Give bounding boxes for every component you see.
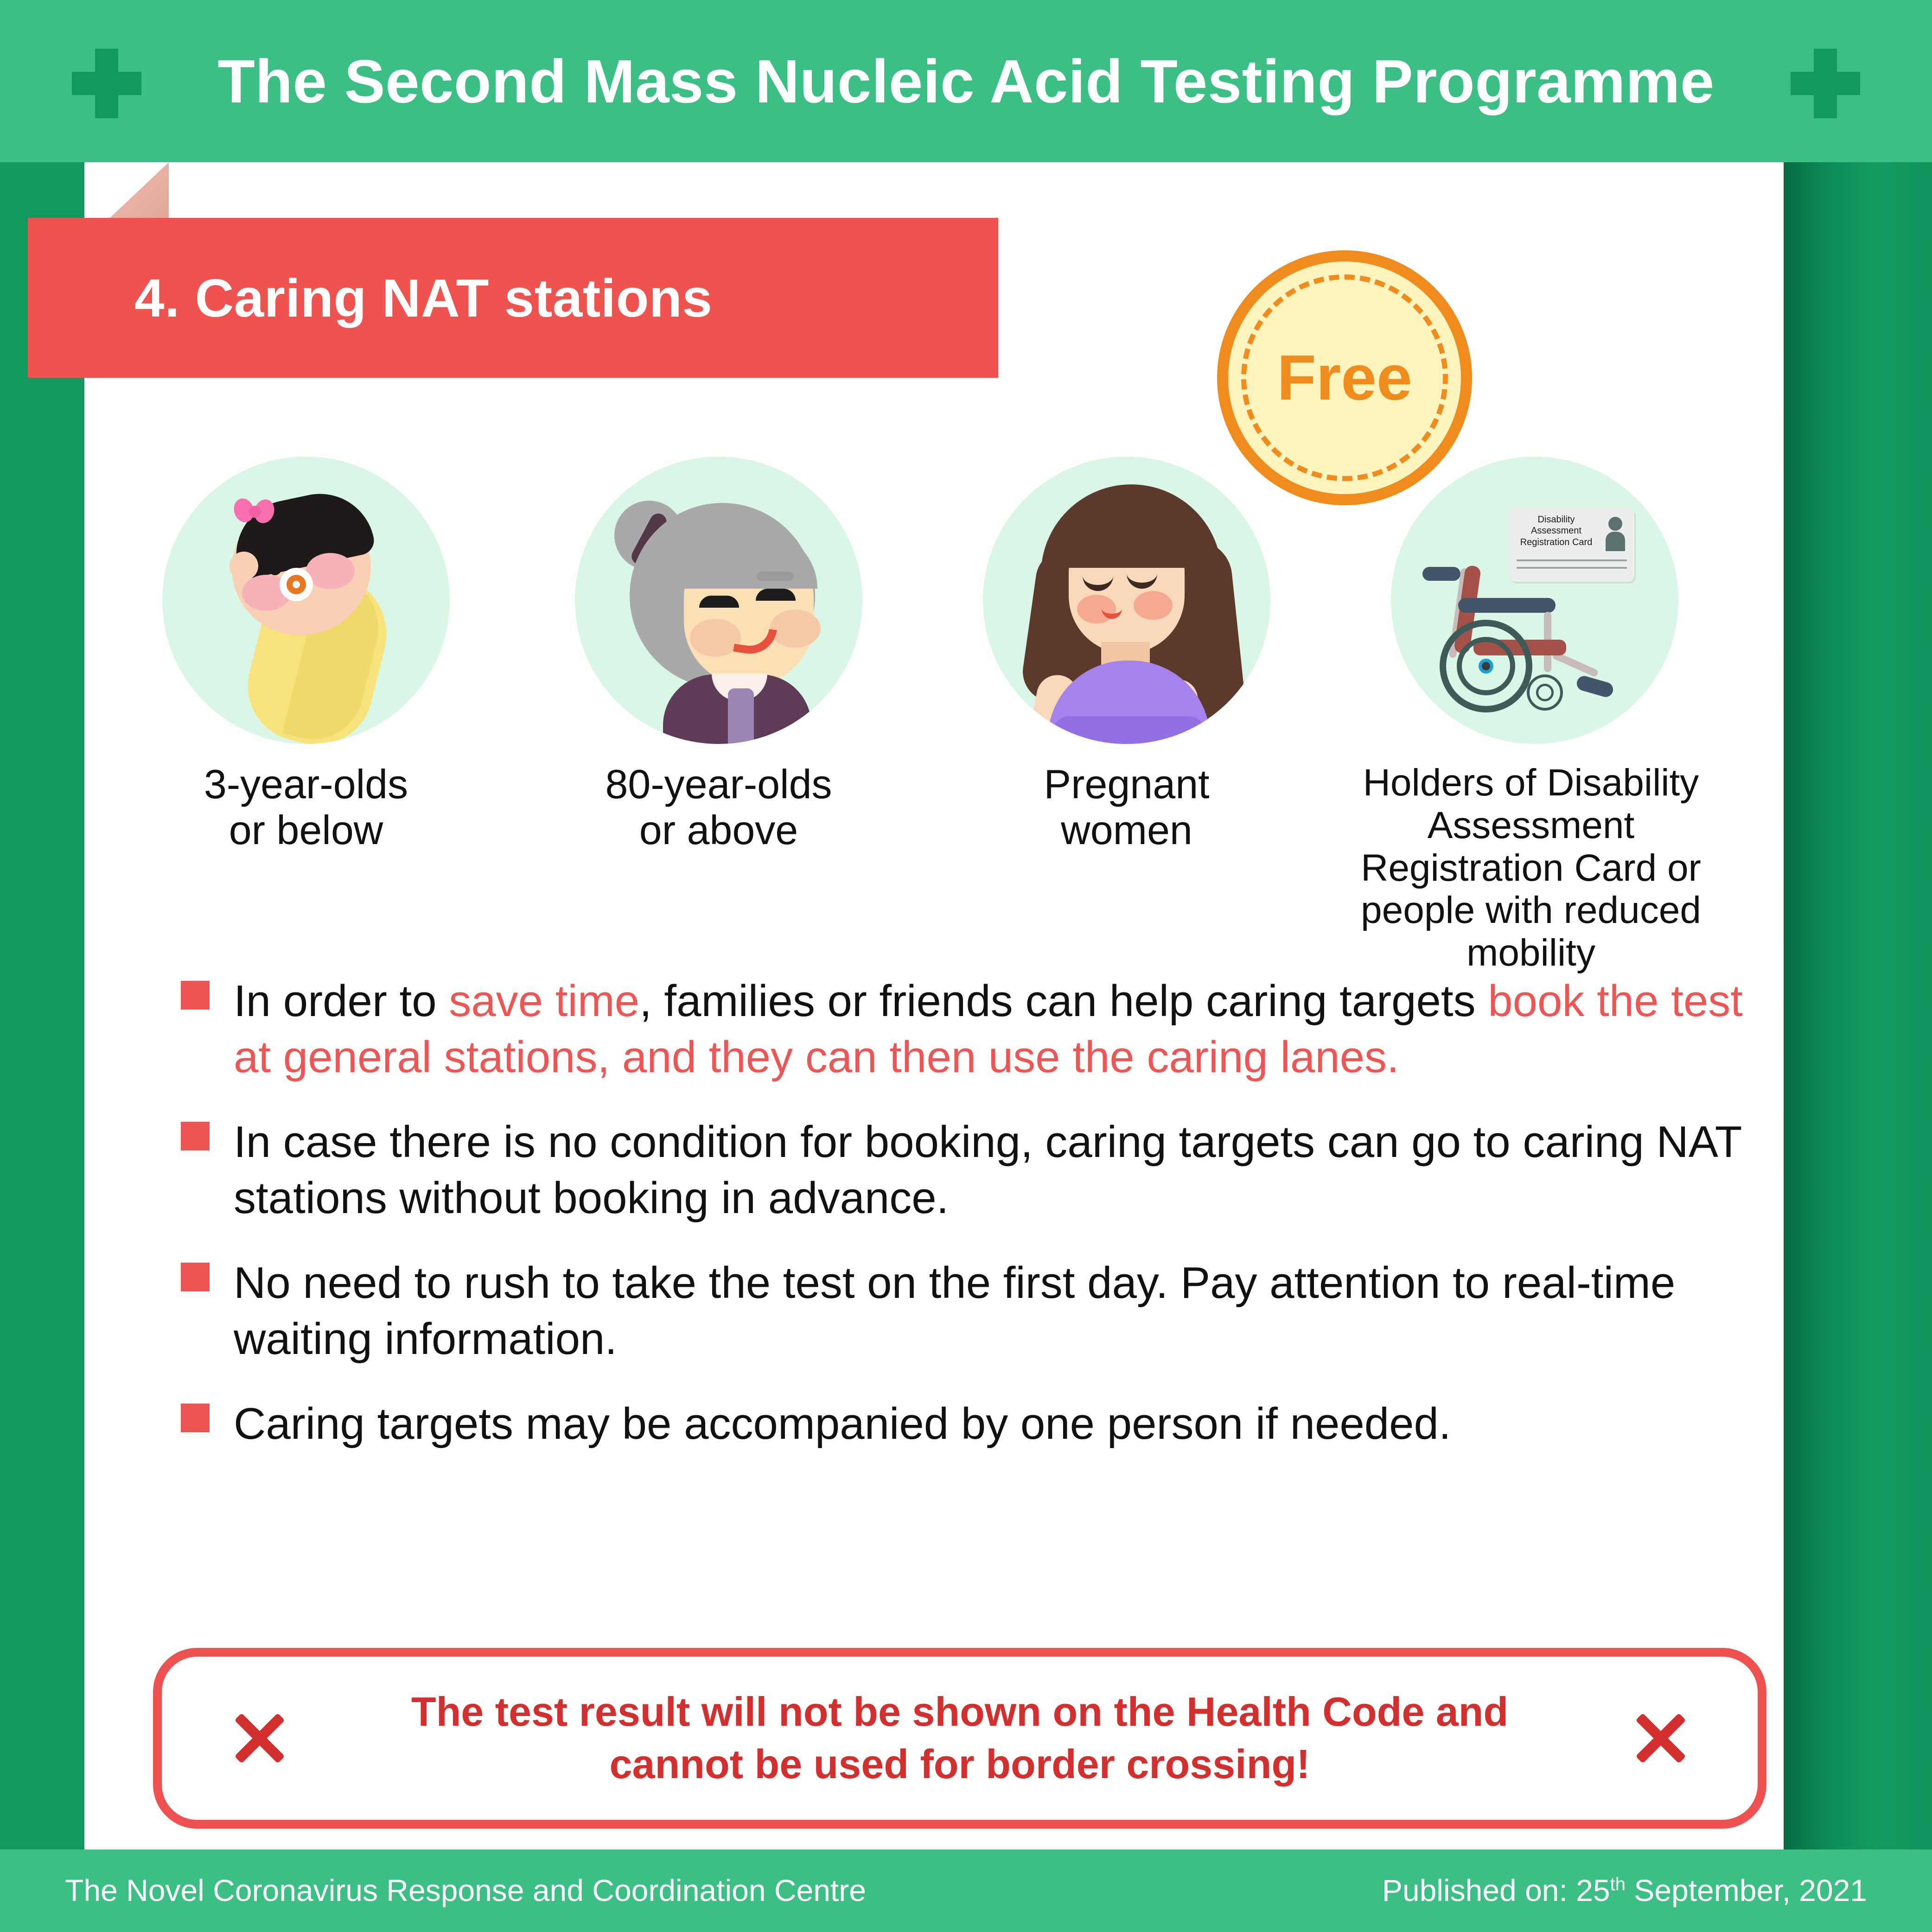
bullet-square-icon bbox=[181, 1263, 210, 1291]
bullet-text: In order to save time, families or frien… bbox=[234, 973, 1757, 1086]
published-rest: September, 2021 bbox=[1626, 1873, 1867, 1907]
target-group-baby: 3-year-oldsor below bbox=[158, 457, 454, 853]
elderly-woman-icon bbox=[575, 457, 862, 744]
target-group-pregnant: Pregnantwomen bbox=[978, 457, 1275, 853]
bullet-text: Caring targets may be accompanied by one… bbox=[234, 1396, 1451, 1452]
poster-root: The Second Mass Nucleic Acid Testing Pro… bbox=[0, 0, 1932, 1932]
right-green-rail bbox=[1784, 162, 1932, 1849]
red-x-icon-right bbox=[1632, 1710, 1688, 1766]
warning-box: The test result will not be shown on the… bbox=[153, 1648, 1766, 1829]
bullet-square-icon bbox=[181, 981, 210, 1010]
published-prefix: Published on: 25 bbox=[1382, 1873, 1610, 1907]
red-x-icon-left bbox=[231, 1710, 287, 1766]
bullet-seg: In order to bbox=[234, 976, 449, 1026]
footer-bar: The Novel Coronavirus Response and Coord… bbox=[0, 1849, 1932, 1932]
published-ordinal: th bbox=[1610, 1874, 1626, 1894]
list-item: No need to rush to take the test on the … bbox=[181, 1255, 1757, 1367]
section-banner: 4. Caring NAT stations bbox=[28, 218, 998, 378]
bullet-text: No need to rush to take the test on the … bbox=[234, 1255, 1757, 1367]
bullet-list: In order to save time, families or frien… bbox=[181, 973, 1757, 1481]
card-person-icon bbox=[1605, 517, 1626, 550]
footer-published-date: Published on: 25th September, 2021 bbox=[1382, 1873, 1867, 1908]
target-label: Pregnantwomen bbox=[978, 762, 1275, 853]
target-group-elderly: 80-year-oldsor above bbox=[570, 457, 867, 853]
bullet-text: In case there is no condition for bookin… bbox=[234, 1114, 1757, 1227]
swaddled-baby-icon bbox=[162, 457, 450, 744]
footer-organisation: The Novel Coronavirus Response and Coord… bbox=[65, 1873, 866, 1908]
pregnant-woman-icon bbox=[983, 457, 1270, 744]
bullet-seg: , families or friends can help caring ta… bbox=[639, 976, 1488, 1026]
left-green-rail bbox=[0, 162, 84, 1849]
target-label: 80-year-oldsor above bbox=[570, 762, 867, 853]
list-item: In case there is no condition for bookin… bbox=[181, 1114, 1757, 1227]
card-line-1: Disability bbox=[1516, 514, 1597, 525]
header-bar: The Second Mass Nucleic Acid Testing Pro… bbox=[0, 0, 1932, 162]
green-cross-icon-right bbox=[1791, 49, 1860, 118]
list-item: In order to save time, families or frien… bbox=[181, 973, 1757, 1086]
warning-text: The test result will not be shown on the… bbox=[403, 1686, 1516, 1790]
card-line-2: Assessment bbox=[1516, 525, 1597, 536]
section-title: 4. Caring NAT stations bbox=[134, 267, 712, 329]
list-item: Caring targets may be accompanied by one… bbox=[181, 1396, 1757, 1452]
bullet-seg-highlight: save time bbox=[449, 976, 639, 1026]
disability-card-icon: Disability Assessment Registration Card bbox=[1509, 508, 1634, 582]
target-group-list: 3-year-oldsor below 80-year-oldsor above bbox=[139, 457, 1753, 957]
bullet-square-icon bbox=[181, 1122, 210, 1150]
target-label: 3-year-oldsor below bbox=[158, 762, 454, 853]
card-line-3: Registration Card bbox=[1516, 537, 1597, 548]
target-group-disability: Disability Assessment Registration Card … bbox=[1386, 457, 1683, 974]
bullet-square-icon bbox=[181, 1404, 210, 1432]
page-title: The Second Mass Nucleic Acid Testing Pro… bbox=[0, 0, 1932, 162]
wheelchair-with-card-icon: Disability Assessment Registration Card bbox=[1391, 457, 1678, 744]
target-label: Holders of Disability Assessment Registr… bbox=[1345, 762, 1716, 974]
